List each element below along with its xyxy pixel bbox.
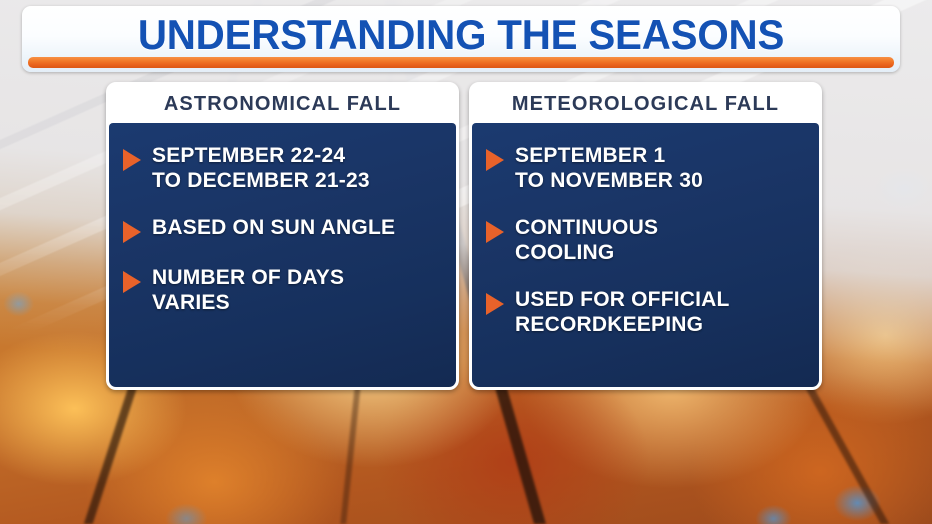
bullet-line-1: SEPTEMBER 22-24 [152,143,370,168]
triangle-bullet-icon [123,271,141,293]
bullet-text: USED FOR OFFICIAL RECORDKEEPING [515,287,730,337]
triangle-bullet-icon [486,293,504,315]
panel-astronomical-fall: ASTRONOMICAL FALL SEPTEMBER 22-24 TO DEC… [106,82,459,390]
triangle-bullet-icon [486,221,504,243]
list-item: NUMBER OF DAYS VARIES [123,265,444,315]
bullet-text: CONTINUOUS COOLING [515,215,658,265]
panel-header-astronomical: ASTRONOMICAL FALL [109,85,456,123]
bullet-text: BASED ON SUN ANGLE [152,215,395,240]
bullet-line-1: SEPTEMBER 1 [515,143,703,168]
bullet-line-1: USED FOR OFFICIAL [515,287,730,312]
triangle-bullet-icon [486,149,504,171]
bullet-text: NUMBER OF DAYS VARIES [152,265,344,315]
page-title: UNDERSTANDING THE SEASONS [40,9,883,61]
bullet-line-2: TO NOVEMBER 30 [515,168,703,193]
list-item: CONTINUOUS COOLING [486,215,807,265]
bullet-text: SEPTEMBER 22-24 TO DECEMBER 21-23 [152,143,370,193]
list-item: SEPTEMBER 22-24 TO DECEMBER 21-23 [123,143,444,193]
bullet-line-1: CONTINUOUS [515,215,658,240]
title-orange-stripe [28,57,894,68]
weather-graphic: UNDERSTANDING THE SEASONS ASTRONOMICAL F… [0,0,932,524]
title-banner: UNDERSTANDING THE SEASONS [22,6,900,72]
triangle-bullet-icon [123,149,141,171]
panel-meteorological-fall: METEOROLOGICAL FALL SEPTEMBER 1 TO NOVEM… [469,82,822,390]
bullet-line-2: VARIES [152,290,344,315]
bullet-line-1: NUMBER OF DAYS [152,265,344,290]
list-item: SEPTEMBER 1 TO NOVEMBER 30 [486,143,807,193]
bullet-line-1: BASED ON SUN ANGLE [152,215,395,240]
bullet-line-2: RECORDKEEPING [515,312,730,337]
comparison-panels: ASTRONOMICAL FALL SEPTEMBER 22-24 TO DEC… [106,82,822,390]
list-item: USED FOR OFFICIAL RECORDKEEPING [486,287,807,337]
panel-body-astronomical: SEPTEMBER 22-24 TO DECEMBER 21-23 BASED … [109,123,456,387]
triangle-bullet-icon [123,221,141,243]
panel-header-meteorological: METEOROLOGICAL FALL [472,85,819,123]
bullet-text: SEPTEMBER 1 TO NOVEMBER 30 [515,143,703,193]
panel-body-meteorological: SEPTEMBER 1 TO NOVEMBER 30 CONTINUOUS CO… [472,123,819,387]
list-item: BASED ON SUN ANGLE [123,215,444,243]
bullet-line-2: COOLING [515,240,658,265]
bullet-line-2: TO DECEMBER 21-23 [152,168,370,193]
